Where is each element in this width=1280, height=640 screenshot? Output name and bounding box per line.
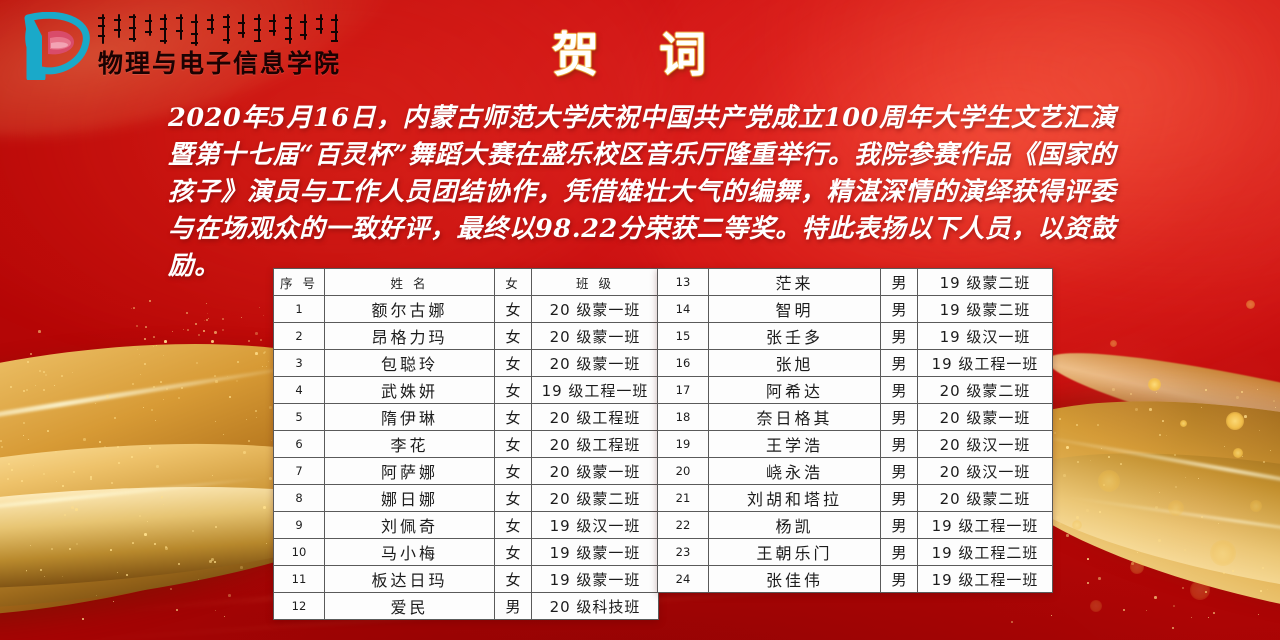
table-row: 4武姝妍女19 级工程一班 (274, 377, 659, 404)
cell-gender: 女 (495, 539, 532, 566)
cell-name: 张旭 (709, 350, 881, 377)
cell-class: 20 级蒙一班 (532, 458, 659, 485)
table-row: 7阿萨娜女20 级蒙一班 (274, 458, 659, 485)
cell-class: 19 级汉一班 (532, 512, 659, 539)
cell-class: 20 级蒙二班 (532, 485, 659, 512)
table-row: 21刘胡和塔拉男20 级蒙二班 (658, 485, 1053, 512)
table-row: 11板达日玛女19 级蒙一班 (274, 566, 659, 593)
cell-name: 王朝乐门 (709, 539, 881, 566)
table-row: 14智明男19 级蒙二班 (658, 296, 1053, 323)
cell-class: 20 级科技班 (532, 593, 659, 620)
cell-class: 19 级工程一班 (918, 512, 1053, 539)
cell-name: 昂格力玛 (325, 323, 495, 350)
table-left-head: 序 号 姓 名 女 班 级 (274, 269, 659, 296)
cell-index: 22 (658, 512, 709, 539)
cell-index: 24 (658, 566, 709, 593)
cell-index: 19 (658, 431, 709, 458)
header-cell-name: 姓 名 (325, 269, 495, 296)
cell-name: 包聪玲 (325, 350, 495, 377)
cell-index: 12 (274, 593, 325, 620)
cell-index: 23 (658, 539, 709, 566)
table-row: 16张旭男19 级工程一班 (658, 350, 1053, 377)
cell-gender: 男 (881, 431, 918, 458)
cell-index: 13 (658, 269, 709, 296)
cell-index: 18 (658, 404, 709, 431)
cell-name: 李花 (325, 431, 495, 458)
cell-index: 20 (658, 458, 709, 485)
cell-gender: 男 (881, 566, 918, 593)
cell-gender: 男 (881, 350, 918, 377)
cell-class: 20 级蒙一班 (532, 296, 659, 323)
cell-name: 爱民 (325, 593, 495, 620)
table-row: 19王学浩男20 级汉一班 (658, 431, 1053, 458)
cell-gender: 女 (495, 566, 532, 593)
table-row: 9刘佩奇女19 级汉一班 (274, 512, 659, 539)
header-cell-index: 序 号 (274, 269, 325, 296)
honoree-table-left: 序 号 姓 名 女 班 级 1额尔古娜女20 级蒙一班2昂格力玛女20 级蒙一班… (273, 268, 659, 620)
cell-index: 1 (274, 296, 325, 323)
cell-gender: 女 (495, 377, 532, 404)
cell-gender: 男 (881, 485, 918, 512)
cell-index: 15 (658, 323, 709, 350)
cell-name: 峣永浩 (709, 458, 881, 485)
cell-class: 19 级工程一班 (918, 350, 1053, 377)
cell-gender: 女 (495, 431, 532, 458)
cell-gender: 男 (881, 269, 918, 296)
page-title: 贺 词 (0, 16, 1280, 85)
header-cell-gender: 女 (495, 269, 532, 296)
cell-class: 20 级蒙二班 (918, 485, 1053, 512)
cell-class: 20 级蒙一班 (532, 350, 659, 377)
cell-index: 5 (274, 404, 325, 431)
cell-class: 19 级蒙二班 (918, 269, 1053, 296)
cell-name: 阿萨娜 (325, 458, 495, 485)
cell-name: 娜日娜 (325, 485, 495, 512)
cell-class: 20 级蒙一班 (532, 323, 659, 350)
cell-name: 杨凯 (709, 512, 881, 539)
cell-name: 刘佩奇 (325, 512, 495, 539)
cell-class: 20 级工程班 (532, 431, 659, 458)
cell-index: 17 (658, 377, 709, 404)
cell-name: 武姝妍 (325, 377, 495, 404)
cell-name: 茫来 (709, 269, 881, 296)
cell-name: 隋伊琳 (325, 404, 495, 431)
cell-class: 20 级汉一班 (918, 458, 1053, 485)
cell-class: 20 级蒙一班 (918, 404, 1053, 431)
cell-class: 20 级蒙二班 (918, 377, 1053, 404)
cell-name: 刘胡和塔拉 (709, 485, 881, 512)
table-header-row: 序 号 姓 名 女 班 级 (274, 269, 659, 296)
table-row: 17阿希达男20 级蒙二班 (658, 377, 1053, 404)
table-row: 20峣永浩男20 级汉一班 (658, 458, 1053, 485)
table-row: 1额尔古娜女20 级蒙一班 (274, 296, 659, 323)
table-row: 15张壬多男19 级汉一班 (658, 323, 1053, 350)
table-row: 6李花女20 级工程班 (274, 431, 659, 458)
cell-name: 马小梅 (325, 539, 495, 566)
cell-gender: 男 (881, 404, 918, 431)
cell-class: 19 级蒙二班 (918, 296, 1053, 323)
cell-gender: 女 (495, 350, 532, 377)
cell-class: 20 级工程班 (532, 404, 659, 431)
cell-class: 19 级工程一班 (532, 377, 659, 404)
cell-name: 奈日格其 (709, 404, 881, 431)
table-row: 2昂格力玛女20 级蒙一班 (274, 323, 659, 350)
cell-gender: 女 (495, 296, 532, 323)
table-row: 22杨凯男19 级工程一班 (658, 512, 1053, 539)
cell-class: 19 级工程二班 (918, 539, 1053, 566)
cell-index: 9 (274, 512, 325, 539)
cell-gender: 男 (881, 377, 918, 404)
congratulation-paragraph: 2020年5月16日，内蒙古师范大学庆祝中国共产党成立100周年大学生文艺汇演暨… (168, 100, 1116, 285)
cell-index: 2 (274, 323, 325, 350)
cell-gender: 男 (881, 512, 918, 539)
cell-name: 额尔古娜 (325, 296, 495, 323)
cell-index: 14 (658, 296, 709, 323)
cell-gender: 男 (881, 458, 918, 485)
cell-index: 21 (658, 485, 709, 512)
slide-canvas: 物理与电子信息学院 贺 词 2020年5月16日，内蒙古师范大学庆祝中国共产党成… (0, 0, 1280, 640)
table-left-body: 1额尔古娜女20 级蒙一班2昂格力玛女20 级蒙一班3包聪玲女20 级蒙一班4武… (274, 296, 659, 620)
cell-gender: 男 (495, 593, 532, 620)
cell-index: 10 (274, 539, 325, 566)
cell-class: 19 级蒙一班 (532, 539, 659, 566)
cell-gender: 男 (881, 323, 918, 350)
cell-gender: 男 (881, 296, 918, 323)
cell-index: 6 (274, 431, 325, 458)
cell-index: 7 (274, 458, 325, 485)
cell-gender: 女 (495, 458, 532, 485)
cell-index: 16 (658, 350, 709, 377)
cell-gender: 男 (881, 539, 918, 566)
header-cell-class: 班 级 (532, 269, 659, 296)
cell-class: 19 级工程一班 (918, 566, 1053, 593)
cell-index: 8 (274, 485, 325, 512)
cell-gender: 女 (495, 512, 532, 539)
table-row: 5隋伊琳女20 级工程班 (274, 404, 659, 431)
cell-name: 板达日玛 (325, 566, 495, 593)
table-right-body: 13茫来男19 级蒙二班14智明男19 级蒙二班15张壬多男19 级汉一班16张… (658, 269, 1053, 593)
table-row: 23王朝乐门男19 级工程二班 (658, 539, 1053, 566)
cell-name: 张壬多 (709, 323, 881, 350)
table-row: 18奈日格其男20 级蒙一班 (658, 404, 1053, 431)
cell-name: 张佳伟 (709, 566, 881, 593)
table-row: 24张佳伟男19 级工程一班 (658, 566, 1053, 593)
cell-gender: 女 (495, 485, 532, 512)
cell-class: 19 级汉一班 (918, 323, 1053, 350)
cell-class: 19 级蒙一班 (532, 566, 659, 593)
cell-class: 20 级汉一班 (918, 431, 1053, 458)
table-row: 3包聪玲女20 级蒙一班 (274, 350, 659, 377)
table-row: 12爱民男20 级科技班 (274, 593, 659, 620)
table-row: 10马小梅女19 级蒙一班 (274, 539, 659, 566)
table-row: 13茫来男19 级蒙二班 (658, 269, 1053, 296)
cell-index: 4 (274, 377, 325, 404)
cell-index: 3 (274, 350, 325, 377)
cell-index: 11 (274, 566, 325, 593)
cell-gender: 女 (495, 404, 532, 431)
cell-name: 阿希达 (709, 377, 881, 404)
cell-name: 王学浩 (709, 431, 881, 458)
cell-name: 智明 (709, 296, 881, 323)
table-row: 8娜日娜女20 级蒙二班 (274, 485, 659, 512)
cell-gender: 女 (495, 323, 532, 350)
honoree-table-right: 13茫来男19 级蒙二班14智明男19 级蒙二班15张壬多男19 级汉一班16张… (657, 268, 1053, 593)
